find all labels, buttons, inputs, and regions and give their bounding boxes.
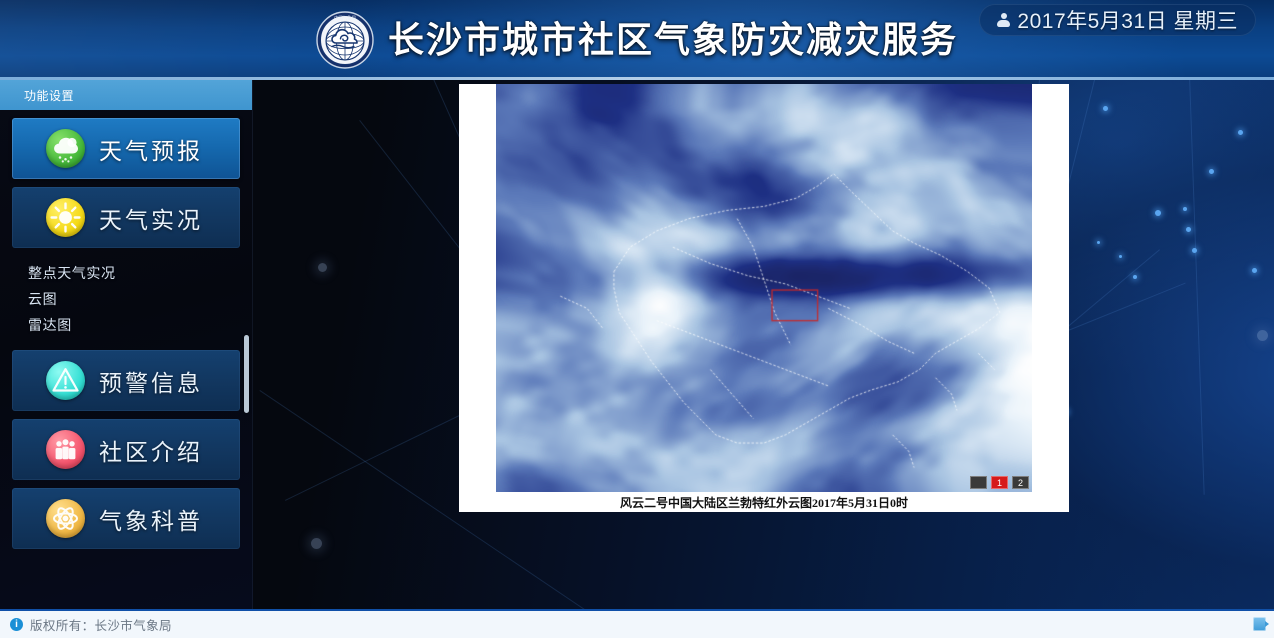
sidebar-item-label: 天气预报 — [99, 132, 203, 166]
sidebar-subitem-hourly-observation[interactable]: 整点天气实况 — [28, 262, 252, 285]
sidebar-header: 功能设置 — [0, 80, 252, 110]
sidebar: 功能设置 天气预报 — [0, 80, 253, 609]
sidebar-item-meteorology-science[interactable]: 气象科普 — [12, 488, 240, 549]
sidebar-item-community-intro[interactable]: 社区介绍 — [12, 419, 240, 480]
person-icon — [997, 13, 1010, 27]
content-panel: 1 2 风云二号中国大陆区兰勃特红外云图2017年5月31日0时 — [459, 84, 1069, 512]
pager-page-2[interactable]: 2 — [1012, 476, 1029, 489]
sidebar-item-label: 天气实况 — [99, 201, 203, 235]
sidebar-submenu: 整点天气实况 云图 雷达图 — [0, 256, 252, 350]
people-group-icon — [46, 430, 85, 469]
date-text: 2017年5月31日 星期三 — [1017, 5, 1238, 35]
vertical-scrollbar[interactable] — [244, 335, 249, 413]
sidebar-item-label: 社区介绍 — [99, 433, 203, 467]
fengyun-2-infrared-cloud-map[interactable]: 1 2 — [496, 84, 1032, 492]
expand-panel-icon[interactable] — [1253, 617, 1266, 631]
pager-page-1[interactable]: 1 — [991, 476, 1008, 489]
cloud-sun-rain-icon — [46, 129, 85, 168]
image-pager: 1 2 — [970, 476, 1029, 489]
sidebar-menu: 天气预报 — [0, 110, 252, 549]
warning-triangle-icon — [46, 361, 85, 400]
sidebar-item-warning-info[interactable]: 预警信息 — [12, 350, 240, 411]
sidebar-item-weather-observation[interactable]: 天气实况 — [12, 187, 240, 248]
footer: i 版权所有：长沙市气象局 — [0, 609, 1274, 638]
atom-icon — [46, 499, 85, 538]
cma-emblem-icon: 中国气象局 — [316, 11, 374, 69]
date-display: 2017年5月31日 星期三 — [979, 4, 1256, 36]
image-caption: 风云二号中国大陆区兰勃特红外云图2017年5月31日0时 — [459, 494, 1069, 511]
sidebar-item-weather-forecast[interactable]: 天气预报 — [12, 118, 240, 179]
sidebar-subitem-radar-map[interactable]: 雷达图 — [28, 314, 252, 337]
sidebar-item-label: 气象科普 — [99, 502, 203, 536]
sidebar-subitem-cloud-map[interactable]: 云图 — [28, 288, 252, 311]
satellite-image-canvas — [496, 84, 1032, 492]
sidebar-header-label: 功能设置 — [24, 87, 74, 104]
pager-prev[interactable] — [970, 476, 987, 489]
app-header: 中国气象局 长沙市城市社区气象防灾减灾服务 2017年5月31日 星期三 — [0, 0, 1274, 80]
page-title: 长沙市城市社区气象防灾减灾服务 — [388, 22, 958, 58]
info-icon: i — [10, 618, 23, 631]
sidebar-item-label: 预警信息 — [99, 364, 203, 398]
cma-emblem-text: 中国气象局 — [334, 15, 356, 22]
sun-icon — [46, 198, 85, 237]
copyright-text: 版权所有：长沙市气象局 — [30, 615, 172, 634]
